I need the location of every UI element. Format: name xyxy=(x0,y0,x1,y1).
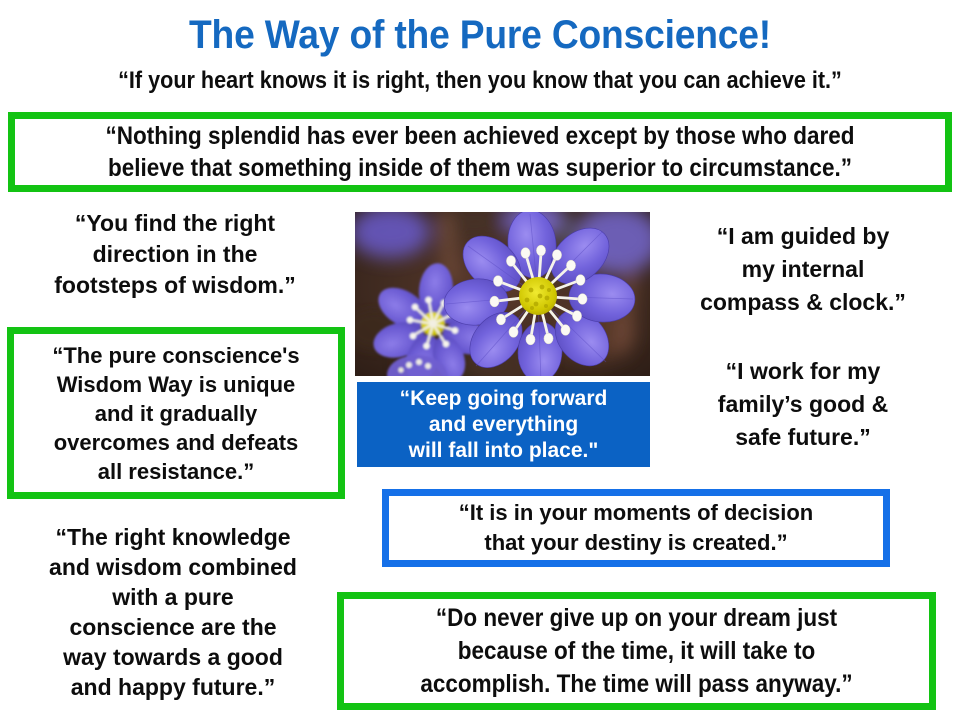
quote-text-splendid: “Nothing splendid has ever been achieved… xyxy=(62,120,899,184)
quote-text-direction: “You find the right direction in the foo… xyxy=(10,208,340,301)
quote-box-wisdom-way: “The pure conscience's Wisdom Way is uni… xyxy=(7,327,345,499)
quote-box-splendid: “Nothing splendid has ever been achieved… xyxy=(8,112,952,192)
quote-text-keep-going: “Keep going forward and everything will … xyxy=(357,386,650,464)
purple-hepatica-flowers-photo xyxy=(355,212,650,376)
quote-text-wisdom-way: “The pure conscience's Wisdom Way is uni… xyxy=(14,341,338,486)
photo-caption-keep-going: “Keep going forward and everything will … xyxy=(357,382,650,467)
quote-text-knowledge: “The right knowledge and wisdom combined… xyxy=(8,522,338,702)
quote-text-family: “I work for my family’s good & safe futu… xyxy=(655,355,951,454)
quote-text-dream: “Do never give up on your dream just bec… xyxy=(373,602,900,701)
page-subtitle-quote: “If your heart knows it is right, then y… xyxy=(48,66,912,96)
quote-box-destiny: “It is in your moments of decision that … xyxy=(382,489,890,567)
quote-box-dream: “Do never give up on your dream just bec… xyxy=(337,592,936,710)
page-title: The Way of the Pure Conscience! xyxy=(34,12,927,58)
quote-text-destiny: “It is in your moments of decision that … xyxy=(389,498,883,558)
quote-text-compass: “I am guided by my internal compass & cl… xyxy=(655,220,951,319)
inspirational-quote-poster: The Way of the Pure Conscience! “If your… xyxy=(0,0,960,720)
